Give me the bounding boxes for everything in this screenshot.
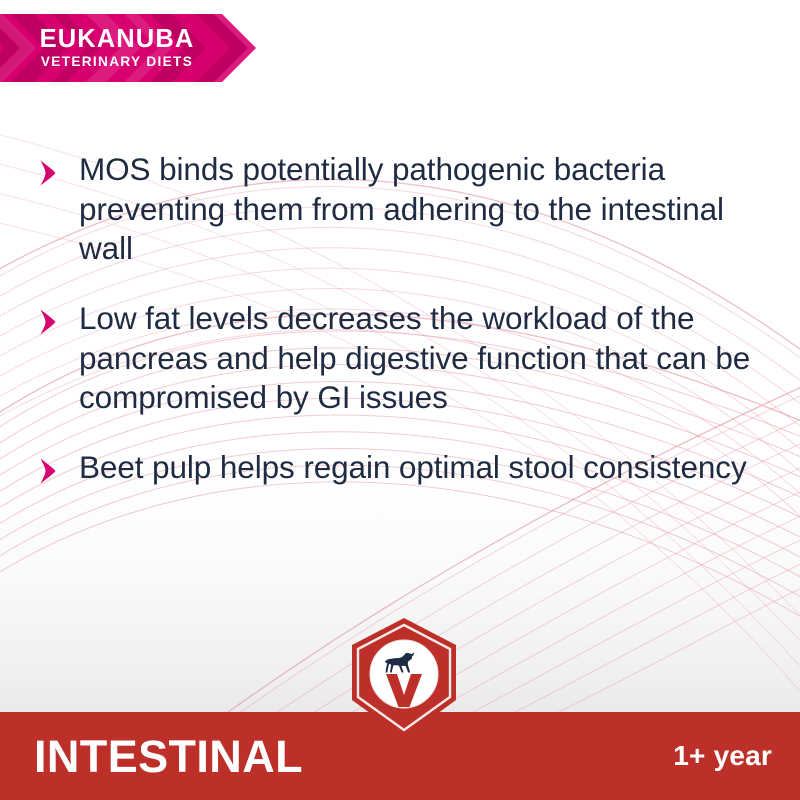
list-item: MOS binds potentially pathogenic bacteri…: [38, 150, 778, 269]
product-name: INTESTINAL: [34, 734, 303, 779]
brand-name: EUKANUBA: [40, 26, 195, 53]
list-item-text: MOS binds potentially pathogenic bacteri…: [79, 150, 778, 269]
chevron-right-icon: [38, 457, 62, 485]
eukanuba-intestinal-infographic: EUKANUBA VETERINARY DIETS MOS binds pote…: [0, 0, 800, 800]
veterinary-hexagon-badge-icon: [346, 616, 462, 740]
age-label: 1+ year: [673, 742, 772, 770]
chevron-right-icon: [38, 159, 62, 187]
list-item-text: Low fat levels decreases the workload of…: [79, 299, 778, 418]
list-item: Low fat levels decreases the workload of…: [38, 299, 778, 418]
benefits-list: MOS binds potentially pathogenic bacteri…: [38, 150, 778, 518]
brand-ribbon: EUKANUBA VETERINARY DIETS: [0, 14, 258, 82]
chevron-right-icon: [38, 308, 62, 336]
list-item-text: Beet pulp helps regain optimal stool con…: [79, 448, 747, 488]
brand-subtitle: VETERINARY DIETS: [41, 55, 193, 70]
list-item: Beet pulp helps regain optimal stool con…: [38, 448, 778, 488]
